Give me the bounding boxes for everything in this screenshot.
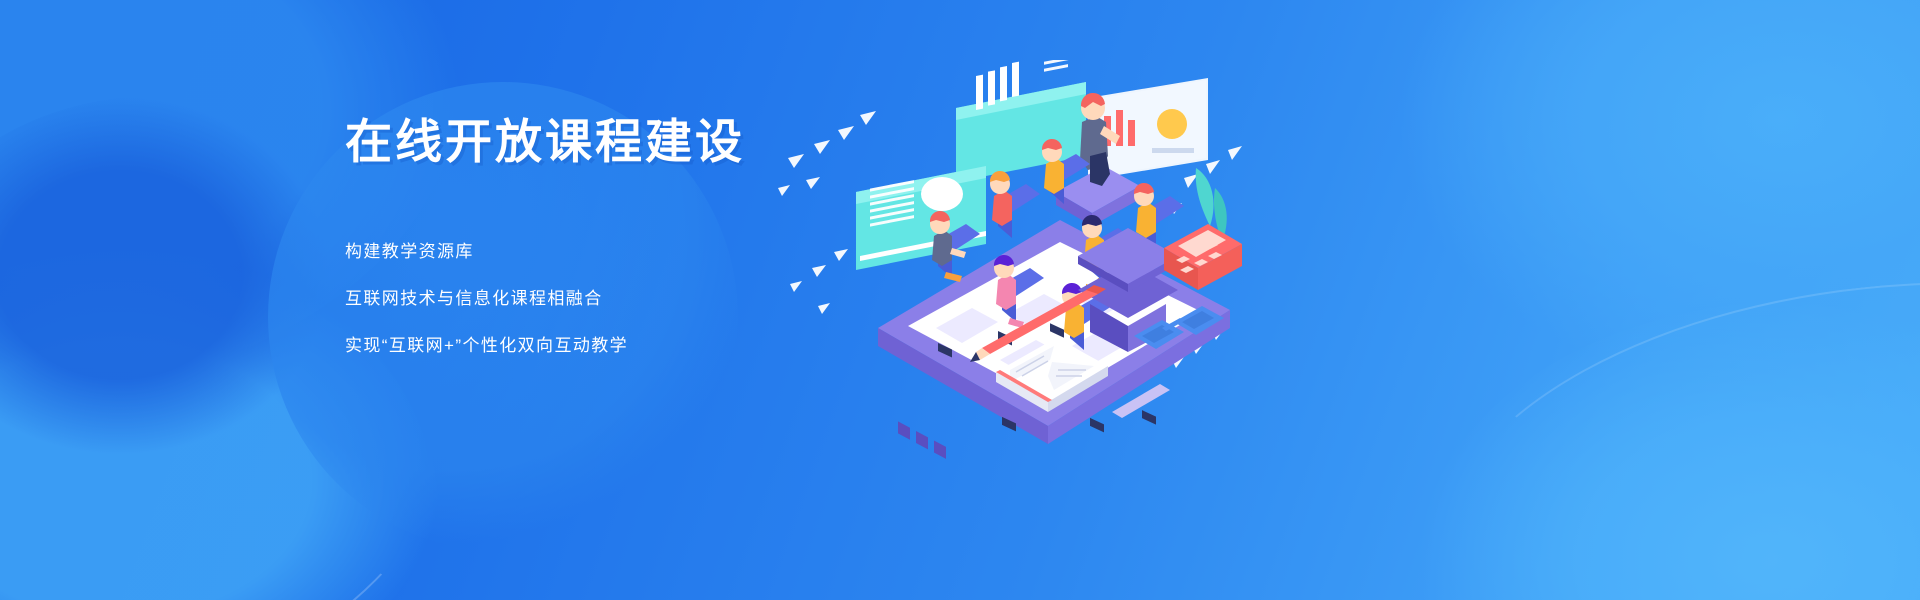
hero-banner: 在线开放课程建设 构建教学资源库 互联网技术与信息化课程相融合 实现“互联网+”… bbox=[0, 0, 1920, 600]
background-wave-line-bottom bbox=[1414, 240, 1920, 600]
hero-text-block: 在线开放课程建设 构建教学资源库 互联网技术与信息化课程相融合 实现“互联网+”… bbox=[345, 118, 745, 356]
subtitle-line-1: 构建教学资源库 bbox=[345, 237, 745, 262]
subtitle-line-2: 互联网技术与信息化课程相融合 bbox=[345, 284, 745, 309]
subtitle-line-3: 实现“互联网+”个性化双向互动教学 bbox=[345, 331, 745, 356]
page-title: 在线开放课程建设 bbox=[345, 118, 745, 165]
background-blob-left-mid bbox=[0, 95, 330, 455]
online-classroom-illustration bbox=[760, 60, 1300, 460]
floating-screen-video bbox=[856, 166, 986, 270]
background-blob-right-top bbox=[1400, 0, 1920, 390]
calculator-icon bbox=[1164, 224, 1242, 290]
tablet-buttons-icon bbox=[898, 421, 946, 459]
background-wave-line-right bbox=[1400, 0, 1920, 369]
background-blob-right-bottom bbox=[1420, 300, 1920, 600]
subtitle-list: 构建教学资源库 互联网技术与信息化课程相融合 实现“互联网+”个性化双向互动教学 bbox=[345, 237, 745, 356]
